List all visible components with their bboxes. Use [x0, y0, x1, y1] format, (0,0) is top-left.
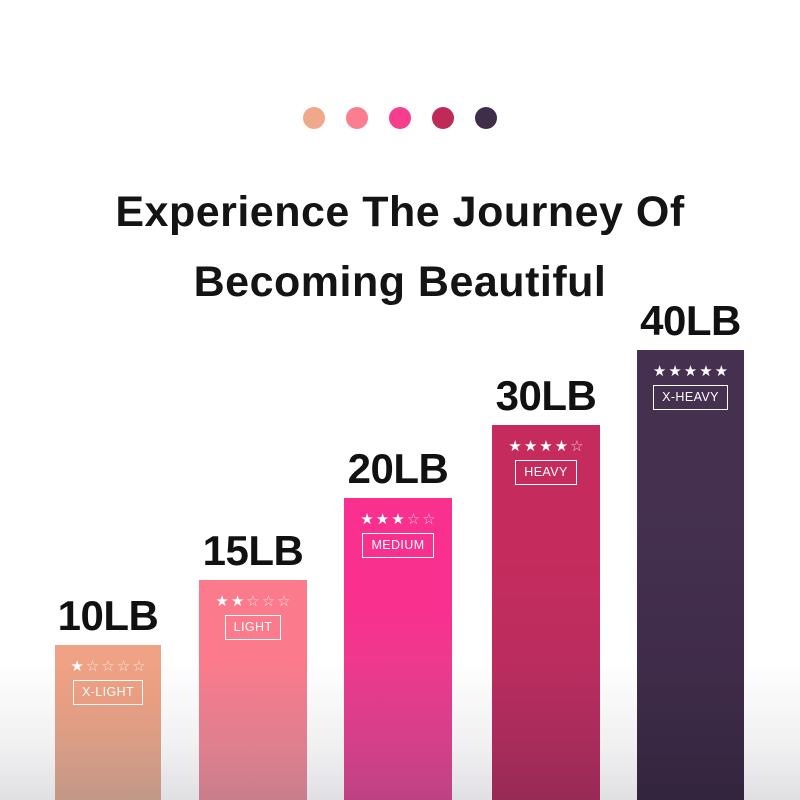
- star-filled-icon: ★: [668, 364, 681, 379]
- bar-badge-30lb: ★★★★☆HEAVY: [492, 439, 600, 485]
- star-filled-icon: ★: [699, 364, 712, 379]
- level-label-medium: MEDIUM: [362, 533, 433, 558]
- star-empty-icon: ☆: [246, 594, 259, 609]
- bar-value-label-20lb: 20LB: [348, 446, 449, 492]
- bar-group-40lb: 40LB★★★★★X-HEAVY: [637, 350, 744, 800]
- star-filled-icon: ★: [215, 594, 228, 609]
- bar-value-label-40lb: 40LB: [640, 298, 741, 344]
- star-empty-icon: ☆: [101, 659, 114, 674]
- bar-15lb: ★★☆☆☆LIGHT: [199, 580, 307, 800]
- bar-badge-40lb: ★★★★★X-HEAVY: [637, 364, 744, 410]
- star-filled-icon: ★: [653, 364, 666, 379]
- star-filled-icon: ★: [524, 439, 537, 454]
- star-filled-icon: ★: [70, 659, 83, 674]
- star-filled-icon: ★: [391, 512, 404, 527]
- star-rating-10lb: ★☆☆☆☆: [70, 659, 145, 674]
- bar-value-label-30lb: 30LB: [496, 373, 597, 419]
- star-empty-icon: ☆: [132, 659, 145, 674]
- star-filled-icon: ★: [684, 364, 697, 379]
- star-empty-icon: ☆: [407, 512, 420, 527]
- star-filled-icon: ★: [231, 594, 244, 609]
- bar-30lb: ★★★★☆HEAVY: [492, 425, 600, 800]
- bar-10lb: ★☆☆☆☆X-LIGHT: [55, 645, 161, 800]
- star-rating-15lb: ★★☆☆☆: [215, 594, 290, 609]
- star-empty-icon: ☆: [86, 659, 99, 674]
- level-label-x-heavy: X-HEAVY: [653, 385, 728, 410]
- star-filled-icon: ★: [539, 439, 552, 454]
- level-label-heavy: HEAVY: [515, 460, 576, 485]
- star-rating-40lb: ★★★★★: [653, 364, 728, 379]
- star-rating-30lb: ★★★★☆: [508, 439, 583, 454]
- bar-40lb: ★★★★★X-HEAVY: [637, 350, 744, 800]
- star-rating-20lb: ★★★☆☆: [360, 512, 435, 527]
- star-filled-icon: ★: [376, 512, 389, 527]
- star-filled-icon: ★: [360, 512, 373, 527]
- bar-fill-40lb: [637, 350, 744, 800]
- bar-group-30lb: 30LB★★★★☆HEAVY: [492, 425, 600, 800]
- star-filled-icon: ★: [555, 439, 568, 454]
- bar-group-15lb: 15LB★★☆☆☆LIGHT: [199, 580, 307, 800]
- star-empty-icon: ☆: [422, 512, 435, 527]
- star-filled-icon: ★: [508, 439, 521, 454]
- bar-value-label-10lb: 10LB: [58, 593, 159, 639]
- bar-20lb: ★★★☆☆MEDIUM: [344, 498, 452, 800]
- star-filled-icon: ★: [715, 364, 728, 379]
- bar-group-20lb: 20LB★★★☆☆MEDIUM: [344, 498, 452, 800]
- bar-badge-20lb: ★★★☆☆MEDIUM: [344, 512, 452, 558]
- star-empty-icon: ☆: [262, 594, 275, 609]
- star-empty-icon: ☆: [117, 659, 130, 674]
- level-label-light: LIGHT: [225, 615, 282, 640]
- infographic-canvas: Experience The Journey Of Becoming Beaut…: [0, 0, 800, 800]
- star-empty-icon: ☆: [570, 439, 583, 454]
- bar-badge-10lb: ★☆☆☆☆X-LIGHT: [55, 659, 161, 705]
- bar-group-10lb: 10LB★☆☆☆☆X-LIGHT: [55, 645, 161, 800]
- bar-value-label-15lb: 15LB: [203, 528, 304, 574]
- level-label-x-light: X-LIGHT: [73, 680, 143, 705]
- star-empty-icon: ☆: [277, 594, 290, 609]
- resistance-band-bar-chart: 10LB★☆☆☆☆X-LIGHT15LB★★☆☆☆LIGHT20LB★★★☆☆M…: [0, 0, 800, 800]
- bar-badge-15lb: ★★☆☆☆LIGHT: [199, 594, 307, 640]
